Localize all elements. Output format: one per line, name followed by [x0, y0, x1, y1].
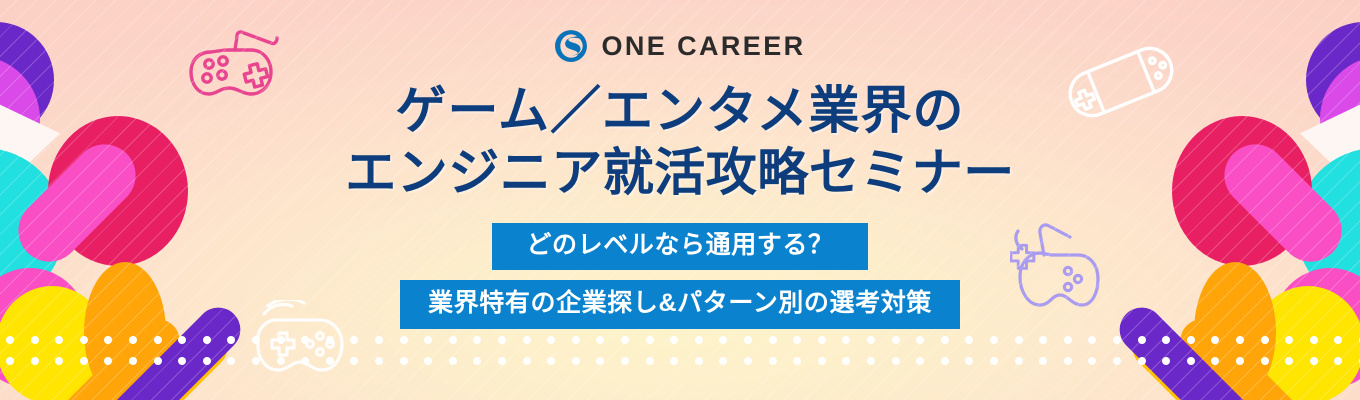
- badge-question: どのレベルなら通用する？: [492, 223, 867, 270]
- badge-topics: 業界特有の企業探し&パターン別の選考対策: [400, 280, 960, 329]
- one-career-swoosh-logo-icon: [554, 29, 588, 63]
- brand-logo: ONE CAREER: [554, 26, 805, 66]
- headline-line-2: エンジニア就活攻略セミナー: [345, 142, 1015, 204]
- badge-list: どのレベルなら通用する？ 業界特有の企業探し&パターン別の選考対策: [400, 223, 960, 329]
- brand-name: ONE CAREER: [601, 33, 805, 60]
- seminar-banner: ONE CAREER ゲーム／エンタメ業界の エンジニア就活攻略セミナー どのレ…: [0, 0, 1360, 400]
- headline-line-1: ゲーム／エンタメ業界の: [345, 80, 1015, 142]
- page-title: ゲーム／エンタメ業界の エンジニア就活攻略セミナー: [345, 80, 1015, 204]
